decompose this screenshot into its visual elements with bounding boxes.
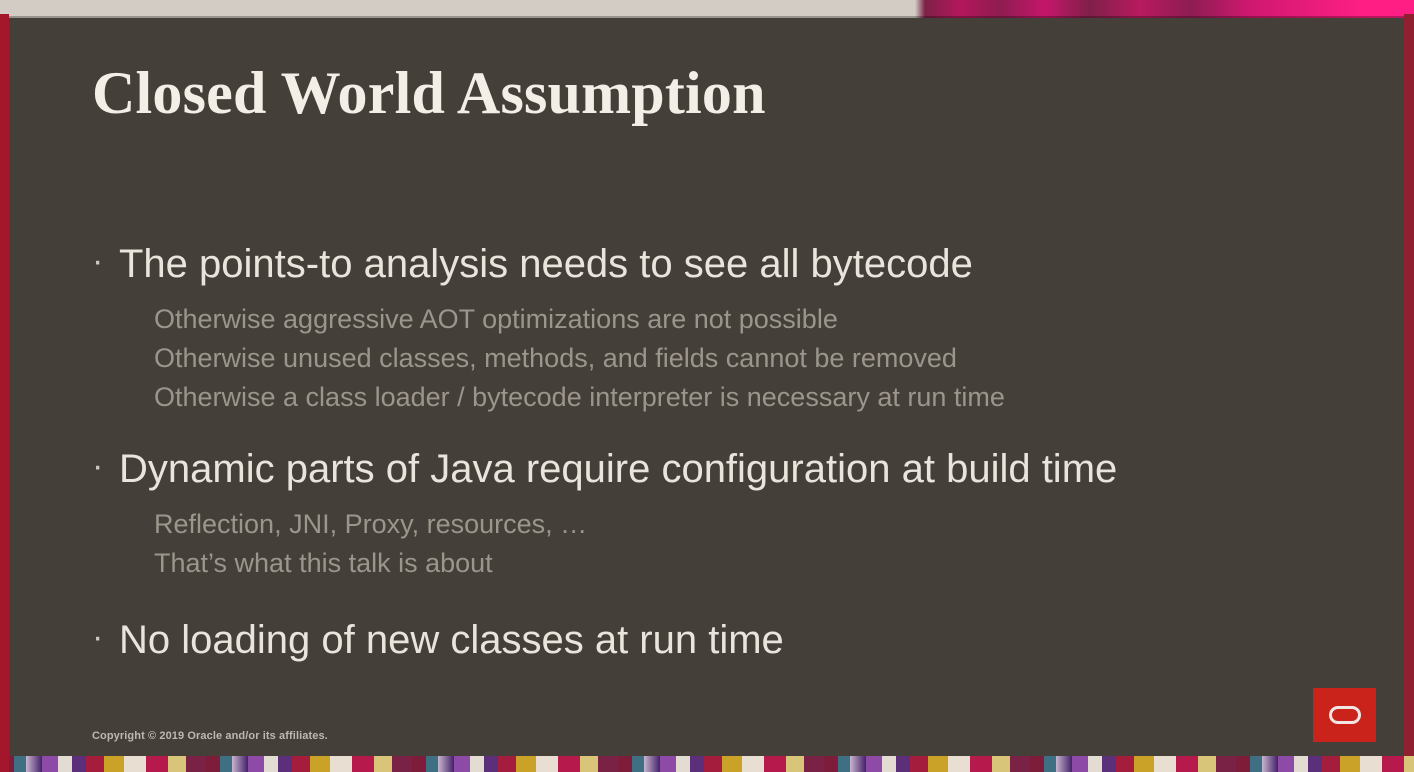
bullet-row: · The points-to analysis needs to see al…: [92, 240, 1332, 289]
slide-rail-left: [0, 14, 9, 772]
sub-bullet-list: Reflection, JNI, Proxy, resources, … Tha…: [92, 505, 1332, 583]
sub-bullet-list: Otherwise aggressive AOT optimizations a…: [92, 300, 1332, 417]
copyright-notice: Copyright © 2019 Oracle and/or its affil…: [92, 730, 328, 742]
sub-bullet-item: Reflection, JNI, Proxy, resources, …: [92, 505, 1332, 544]
bullet-group: · Dynamic parts of Java require configur…: [92, 445, 1332, 583]
bullet-group: · The points-to analysis needs to see al…: [92, 240, 1332, 417]
oracle-logo-icon: [1329, 706, 1361, 724]
bullet-text: No loading of new classes at run time: [119, 616, 784, 665]
sub-bullet-item: That’s what this talk is about: [92, 544, 1332, 583]
bullet-text: The points-to analysis needs to see all …: [119, 240, 973, 289]
bullet-row: · Dynamic parts of Java require configur…: [92, 445, 1332, 494]
slide-title: Closed World Assumption: [92, 59, 766, 128]
sub-bullet-item: Otherwise a class loader / bytecode inte…: [92, 378, 1332, 417]
sub-bullet-item: Otherwise aggressive AOT optimizations a…: [92, 300, 1332, 339]
slide-canvas: Closed World Assumption · The points-to …: [9, 18, 1404, 756]
sub-bullet-item: Otherwise unused classes, methods, and f…: [92, 339, 1332, 378]
bullet-dot-icon: ·: [92, 244, 119, 278]
bullet-dot-icon: ·: [92, 449, 119, 483]
slide-body: · The points-to analysis needs to see al…: [92, 240, 1332, 665]
oracle-logo: [1313, 688, 1376, 742]
bullet-text: Dynamic parts of Java require configurat…: [119, 445, 1117, 494]
bullet-dot-icon: ·: [92, 620, 119, 654]
presentation-stage: Closed World Assumption · The points-to …: [0, 0, 1414, 772]
bullet-group: · No loading of new classes at run time: [92, 616, 1332, 665]
bullet-row: · No loading of new classes at run time: [92, 616, 1332, 665]
background-artwork-bottom: [0, 756, 1414, 772]
slide-rail-right: [1404, 14, 1414, 756]
